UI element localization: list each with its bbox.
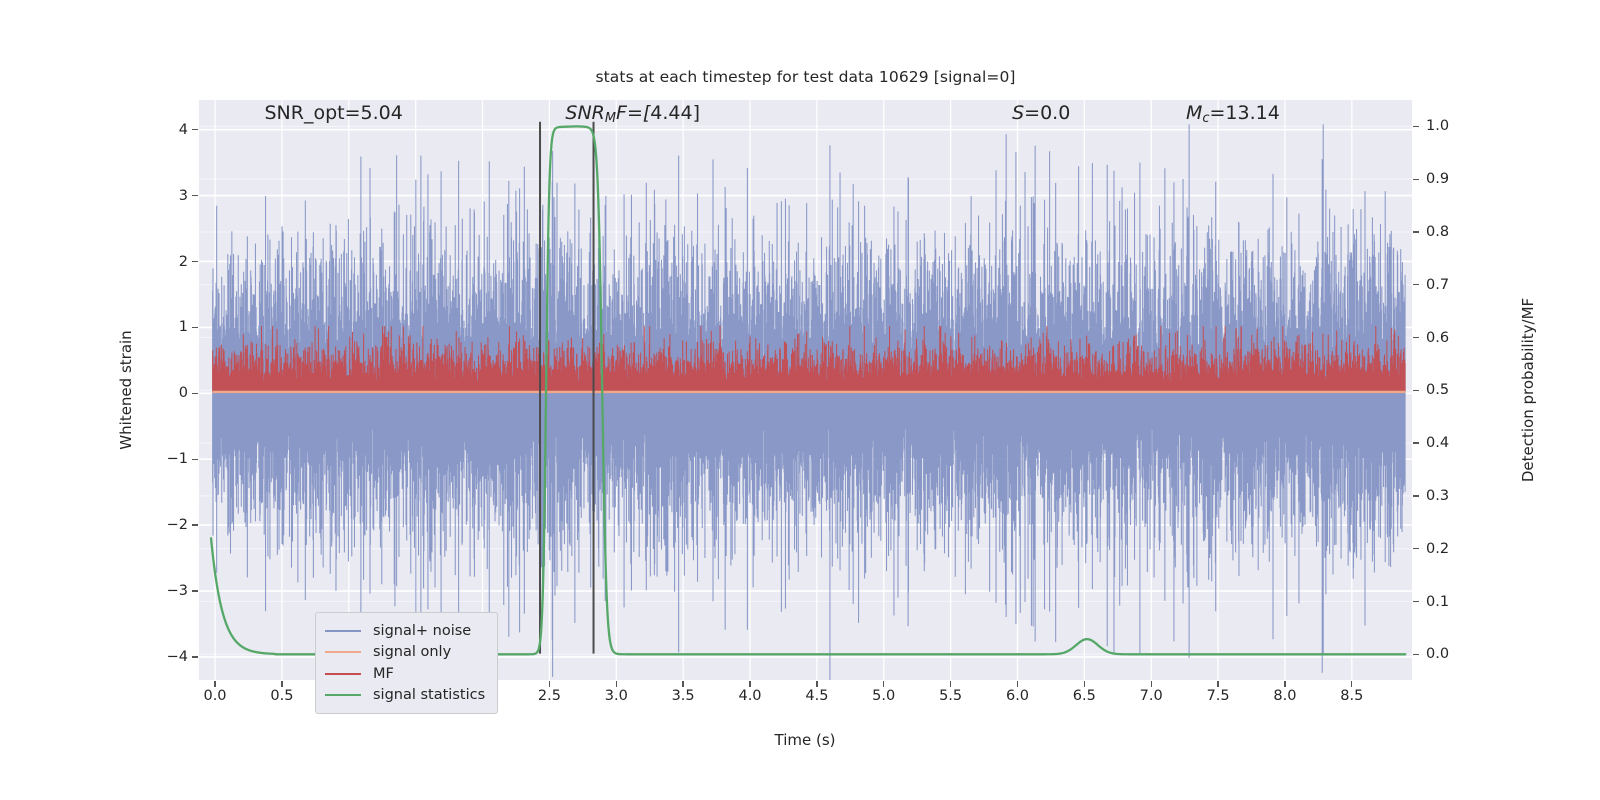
y-tick-mark-left	[192, 195, 198, 196]
y-tick-mark-left	[192, 327, 198, 328]
y-tick-label-left: −4	[150, 649, 188, 665]
y-axis-label-left: Whitened strain	[117, 330, 135, 449]
y-tick-label-left: −3	[150, 583, 188, 599]
y-tick-label-right: 0.0	[1426, 646, 1449, 662]
y-tick-mark-left	[192, 261, 198, 262]
x-tick-mark	[1017, 681, 1018, 687]
legend-color-swatch	[325, 694, 361, 696]
annotation-chirp-mass: Mc=13.14	[1186, 102, 1280, 126]
figure-canvas: stats at each timestep for test data 106…	[0, 0, 1600, 800]
legend-item[interactable]: signal statistics	[325, 685, 485, 707]
y-tick-mark-left	[192, 129, 198, 130]
x-tick-label: 8.0	[1273, 688, 1296, 704]
y-tick-mark-left	[192, 524, 198, 525]
y-tick-label-left: 0	[150, 385, 188, 401]
y-tick-label-right: 0.2	[1426, 541, 1449, 557]
y-tick-mark-left	[192, 656, 198, 657]
y-tick-label-right: 0.1	[1426, 594, 1449, 610]
plot-svg	[199, 100, 1412, 680]
annotation-snr-mf: SNRMF=[4.44]	[565, 102, 700, 126]
y-tick-mark-right	[1413, 654, 1419, 655]
y-tick-mark-right	[1413, 179, 1419, 180]
x-tick-mark	[1351, 681, 1352, 687]
legend-color-swatch	[325, 630, 361, 632]
legend-item-label: MF	[373, 666, 394, 682]
y-tick-mark-right	[1413, 284, 1419, 285]
y-tick-label-left: −2	[150, 517, 188, 533]
page-title: stats at each timestep for test data 106…	[199, 68, 1412, 86]
y-axis-label-right: Detection probability/MF	[1519, 298, 1537, 482]
y-tick-mark-right	[1413, 495, 1419, 496]
x-tick-label: 3.0	[605, 688, 628, 704]
y-tick-label-right: 0.5	[1426, 382, 1449, 398]
legend-item-label: signal+ noise	[373, 623, 471, 639]
y-tick-mark-left	[192, 459, 198, 460]
y-tick-label-left: 4	[150, 122, 188, 138]
x-tick-label: 6.0	[1006, 688, 1029, 704]
y-tick-mark-right	[1413, 548, 1419, 549]
legend[interactable]: signal+ noisesignal onlyMFsignal statist…	[315, 612, 498, 714]
y-tick-mark-left	[192, 590, 198, 591]
legend-item[interactable]: MF	[325, 663, 485, 685]
x-tick-mark	[1217, 681, 1218, 687]
x-tick-label: 4.5	[805, 688, 828, 704]
legend-color-swatch	[325, 651, 361, 653]
y-tick-mark-right	[1413, 337, 1419, 338]
x-tick-label: 6.5	[1073, 688, 1096, 704]
x-tick-mark	[682, 681, 683, 687]
plot-area[interactable]: SNR_opt=5.04 SNRMF=[4.44] S=0.0 Mc=13.14	[199, 100, 1412, 680]
x-tick-label: 7.5	[1207, 688, 1230, 704]
y-tick-label-left: −1	[150, 451, 188, 467]
x-tick-label: 5.0	[872, 688, 895, 704]
x-axis-label: Time (s)	[775, 731, 836, 749]
y-tick-label-left: 3	[150, 188, 188, 204]
legend-item-label: signal only	[373, 644, 451, 660]
y-tick-mark-right	[1413, 231, 1419, 232]
x-tick-label: 7.0	[1140, 688, 1163, 704]
y-tick-mark-right	[1413, 126, 1419, 127]
y-tick-label-right: 0.4	[1426, 435, 1449, 451]
y-tick-label-right: 0.8	[1426, 224, 1449, 240]
x-tick-mark	[281, 681, 282, 687]
legend-item-label: signal statistics	[373, 687, 485, 703]
noise-trace	[213, 124, 1405, 680]
y-tick-mark-right	[1413, 601, 1419, 602]
x-tick-mark	[950, 681, 951, 687]
x-tick-label: 8.5	[1340, 688, 1363, 704]
x-tick-mark	[749, 681, 750, 687]
y-tick-mark-right	[1413, 442, 1419, 443]
x-tick-mark	[1151, 681, 1152, 687]
annotation-snr-opt: SNR_opt=5.04	[265, 102, 403, 124]
y-tick-mark-left	[192, 393, 198, 394]
y-tick-label-right: 0.7	[1426, 277, 1449, 293]
y-tick-label-left: 1	[150, 319, 188, 335]
y-tick-label-left: 2	[150, 254, 188, 270]
y-tick-label-right: 0.6	[1426, 330, 1449, 346]
x-tick-label: 2.5	[538, 688, 561, 704]
x-tick-label: 4.0	[738, 688, 761, 704]
x-tick-label: 5.5	[939, 688, 962, 704]
x-tick-label: 0.0	[203, 688, 226, 704]
x-tick-label: 0.5	[270, 688, 293, 704]
x-tick-mark	[214, 681, 215, 687]
legend-item[interactable]: signal+ noise	[325, 620, 485, 642]
series-signal-plus-noise	[213, 124, 1405, 680]
x-tick-mark	[1284, 681, 1285, 687]
x-tick-mark	[816, 681, 817, 687]
x-tick-mark	[883, 681, 884, 687]
x-tick-mark	[616, 681, 617, 687]
x-tick-mark	[549, 681, 550, 687]
y-tick-label-right: 1.0	[1426, 118, 1449, 134]
y-tick-label-right: 0.9	[1426, 171, 1449, 187]
x-tick-label: 3.5	[672, 688, 695, 704]
annotation-detection-statistic: S=0.0	[1012, 102, 1070, 124]
legend-item[interactable]: signal only	[325, 642, 485, 664]
legend-color-swatch	[325, 673, 361, 675]
y-tick-mark-right	[1413, 390, 1419, 391]
y-tick-label-right: 0.3	[1426, 488, 1449, 504]
x-tick-mark	[1084, 681, 1085, 687]
